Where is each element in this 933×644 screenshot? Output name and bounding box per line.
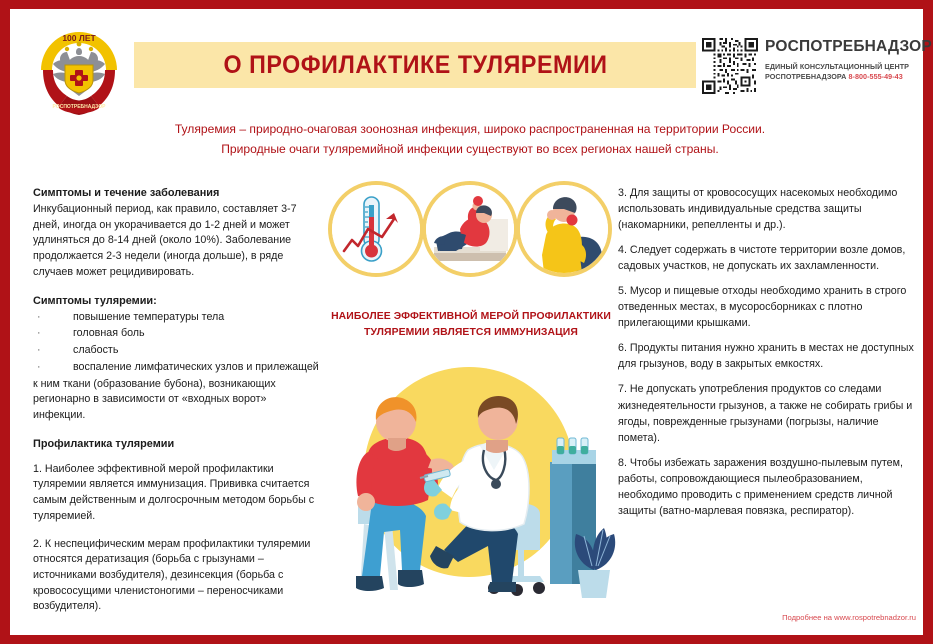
immunization-caption-line2: ТУЛЯРЕМИИ ЯВЛЯЕТСЯ ИММУНИЗАЦИЯ — [328, 325, 614, 341]
symptoms-course-text: Инкубационный период, как правило, соста… — [33, 202, 320, 281]
left-column: Симптомы и течение заболевания Инкубацио… — [33, 185, 320, 627]
thermometer-fever-icon — [328, 181, 424, 277]
bullet-dot-icon: · — [37, 326, 41, 342]
bullet-dot-icon: · — [37, 310, 41, 326]
immunization-caption: НАИБОЛЕЕ ЭФФЕКТИВНОЙ МЕРОЙ ПРОФИЛАКТИКИ … — [328, 309, 614, 340]
headache-person-icon — [422, 181, 518, 277]
prevention-item-5: 5. Мусор и пищевые отходы необходимо хра… — [618, 283, 916, 331]
brand-subtitle: ЕДИНЫЙ КОНСУЛЬТАЦИОННЫЙ ЦЕНТР РОСПОТРЕБН… — [765, 62, 925, 83]
center-illustrations — [328, 177, 612, 295]
immunization-caption-line1: НАИБОЛЕЕ ЭФФЕКТИВНОЙ МЕРОЙ ПРОФИЛАКТИКИ — [328, 309, 614, 325]
symptoms-course-heading: Симптомы и течение заболевания — [33, 185, 320, 201]
prevention-item-1: 1. Наиболее эффективной мерой профилакти… — [33, 462, 320, 525]
symptoms-list: ·повышение температуры тела ·головная бо… — [33, 310, 320, 376]
prevention-item-8: 8. Чтобы избежать заражения воздушно-пыл… — [618, 455, 916, 519]
prevention-item-6: 6. Продукты питания нужно хранить в мест… — [618, 340, 916, 372]
emblem-anniversary: 100 ЛЕТ — [62, 33, 96, 43]
poster-root: РОСПОТРЕБНАДЗОР 100 ЛЕТ О ПРОФИЛАКТИКЕ Т… — [0, 0, 933, 644]
title-banner: О ПРОФИЛАКТИКЕ ТУЛЯРЕМИИ — [134, 42, 696, 88]
brand-subtitle-line2-text: РОСПОТРЕБНАДЗОРА — [765, 72, 846, 81]
prevention-item-3: 3. Для защиты от кровососущих насекомых … — [618, 185, 916, 233]
symptom-label: слабость — [73, 344, 118, 356]
intro-line-1: Туляремия – природно-очаговая зоонозная … — [120, 120, 820, 140]
hotline-phone[interactable]: 8-800-555-49-43 — [848, 72, 902, 81]
poster-header: РОСПОТРЕБНАДЗОР 100 ЛЕТ О ПРОФИЛАКТИКЕ Т… — [10, 9, 923, 114]
poster-sheet: РОСПОТРЕБНАДЗОР 100 ЛЕТ О ПРОФИЛАКТИКЕ Т… — [10, 9, 923, 635]
prevention-item-2: 2. К неспецифическим мерам профилактики … — [33, 537, 320, 616]
symptoms-list-heading: Симптомы туляремии: — [33, 293, 320, 309]
brand-subtitle-line1: ЕДИНЫЙ КОНСУЛЬТАЦИОННЫЙ ЦЕНТР — [765, 62, 925, 72]
emblem-ribbon-text: РОСПОТРЕБНАДЗОР — [53, 104, 107, 110]
right-column: 3. Для защиты от кровососущих насекомых … — [618, 185, 916, 528]
prevention-item-4: 4. Следует содержать в чистоте территори… — [618, 242, 916, 274]
swollen-lymph-node-person-icon — [516, 181, 612, 277]
symptoms-list-continuation: к ним ткани (образование бубона), возник… — [33, 377, 320, 424]
vaccination-illustration — [328, 354, 618, 616]
bullet-dot-icon: · — [37, 343, 41, 359]
page-title: О ПРОФИЛАКТИКЕ ТУЛЯРЕМИИ — [223, 51, 607, 80]
list-item: ·слабость — [33, 343, 320, 359]
footer-website-note[interactable]: Подробнее на www.rospotrebnadzor.ru — [610, 613, 916, 622]
list-item: ·головная боль — [33, 326, 320, 342]
intro-line-2: Природные очаги туляремийной инфекции су… — [120, 140, 820, 160]
symptom-icon-row — [328, 177, 612, 295]
bullet-dot-icon: · — [37, 360, 41, 376]
symptom-label: воспаление лимфатических узлов и прилежа… — [73, 361, 319, 373]
list-item: ·повышение температуры тела — [33, 310, 320, 326]
symptom-label: повышение температуры тела — [73, 311, 224, 323]
rospotrebnadzor-emblem: РОСПОТРЕБНАДЗОР 100 ЛЕТ — [33, 26, 125, 118]
symptom-label: головная боль — [73, 327, 145, 339]
prevention-heading: Профилактика туляремии — [33, 436, 320, 452]
prevention-item-7: 7. Не допускать употребления продуктов с… — [618, 381, 916, 445]
brand-name: РОСПОТРЕБНАДЗОР — [765, 39, 925, 55]
brand-subtitle-line2: РОСПОТРЕБНАДЗОРА 8-800-555-49-43 — [765, 72, 925, 82]
qr-code[interactable] — [702, 38, 758, 94]
brand-block: РОСПОТРЕБНАДЗОР ЕДИНЫЙ КОНСУЛЬТАЦИОННЫЙ … — [765, 39, 925, 82]
list-item: ·воспаление лимфатических узлов и прилеж… — [33, 360, 320, 376]
intro-text: Туляремия – природно-очаговая зоонозная … — [120, 120, 820, 159]
